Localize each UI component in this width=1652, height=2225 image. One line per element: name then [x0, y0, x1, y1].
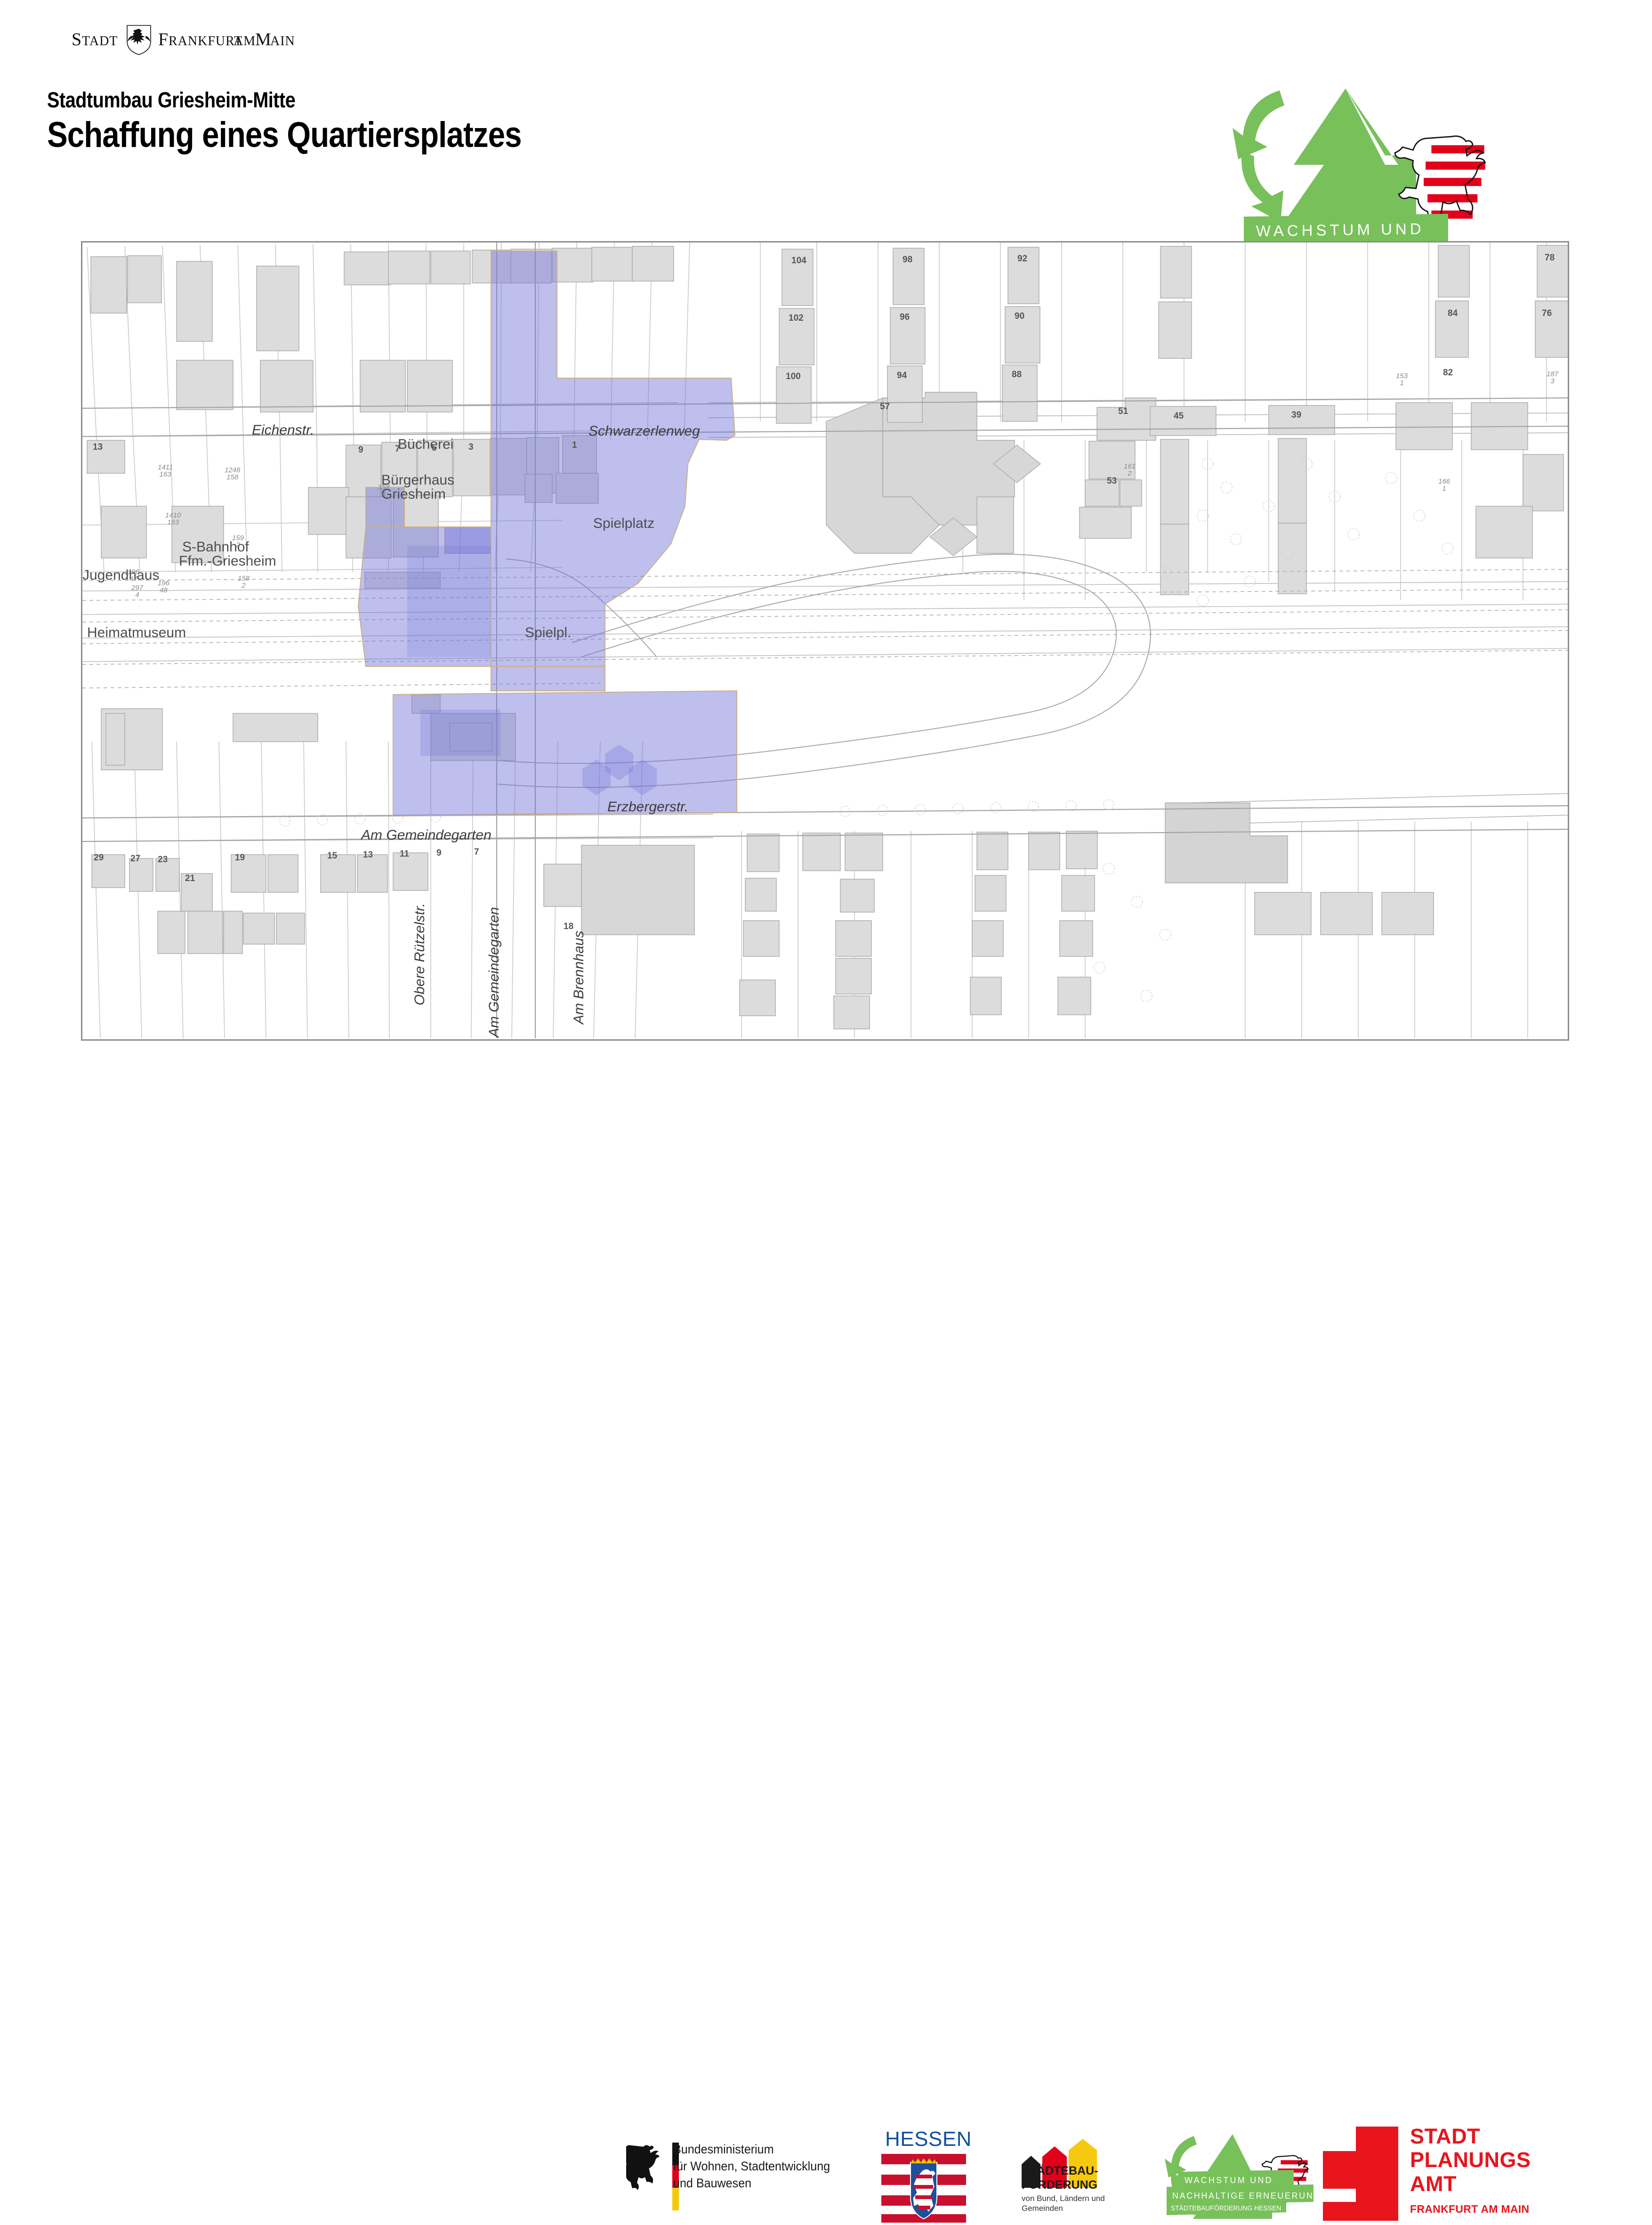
- program-small-line2: NACHHALTIGE ERNEUERUNG: [1172, 2191, 1322, 2201]
- program-small-line3: STÄDTEBAUFÖRDERUNG HESSEN: [1171, 2204, 1281, 2213]
- svg-text:TADT: TADT: [82, 34, 118, 49]
- sbf-sub1: von Bund, Ländern und: [1022, 2193, 1105, 2203]
- program-small-line1: WACHSTUM UND: [1185, 2176, 1273, 2185]
- spa-line1: STADT: [1410, 2125, 1531, 2148]
- federal-eagle-icon: [626, 2145, 660, 2190]
- svg-text:M: M: [255, 30, 271, 49]
- svg-text:F: F: [158, 30, 168, 49]
- city-logo-svg: S TADT F RANKFURT AM M AIN: [72, 23, 373, 56]
- hessen-coat-of-arms: [881, 2152, 966, 2223]
- eagle-shield-icon: [127, 25, 151, 55]
- stadtplanungsamt-text: STADT PLANUNGS AMT: [1410, 2125, 1531, 2196]
- sbf-sub2: Gemeinden: [1022, 2203, 1105, 2213]
- svg-text:AIN: AIN: [270, 34, 295, 49]
- spa-line3: AMT: [1410, 2172, 1531, 2196]
- staedtebaufoerderung-subtext: von Bund, Ländern und Gemeinden: [1022, 2193, 1105, 2214]
- svg-text:RANKFURT: RANKFURT: [169, 34, 242, 49]
- city-of-frankfurt-logo: S TADT F RANKFURT AM M AIN: [72, 23, 373, 56]
- sbf-line2: FÖRDERUNG: [1022, 2178, 1098, 2192]
- bmw-line3: und Bauwesen: [673, 2175, 830, 2192]
- bundesministerium-text: Bundesministerium für Wohnen, Stadtentwi…: [673, 2141, 830, 2192]
- bmw-line2: für Wohnen, Stadtentwicklung: [673, 2158, 830, 2175]
- svg-text:AM: AM: [234, 34, 256, 49]
- growth-arrow-icon: [1280, 89, 1417, 229]
- hessen-shield-icon: [911, 2159, 937, 2219]
- map-vector-layer: [82, 243, 1568, 1039]
- staedtebaufoerderung-text: STÄDTEBAU- FÖRDERUNG: [1022, 2164, 1098, 2192]
- project-subtitle: Stadtumbau Griesheim-Mitte: [47, 87, 295, 113]
- svg-text:S: S: [72, 30, 82, 49]
- hessen-wordmark: HESSEN: [885, 2128, 972, 2151]
- stadtplanungsamt-mark-icon: [1323, 2127, 1398, 2221]
- cadastral-map[interactable]: Eichenstr. Schwarzerlenweg Erzbergerstr.…: [81, 241, 1569, 1041]
- recycle-arrow-icon: [1233, 90, 1284, 222]
- stadtplanungsamt-subtext: FRANKFURT AM MAIN: [1410, 2203, 1529, 2216]
- spa-line2: PLANUNGS: [1410, 2148, 1531, 2172]
- sbf-line1: STÄDTEBAU-: [1022, 2164, 1098, 2178]
- program-line1: WACHSTUM UND: [1256, 220, 1425, 240]
- bmw-line1: Bundesministerium: [673, 2141, 830, 2158]
- page-title: Schaffung eines Quartiersplatzes: [47, 114, 522, 155]
- funding-logo-bar: Bundesministerium für Wohnen, Stadtentwi…: [0, 1060, 1652, 1168]
